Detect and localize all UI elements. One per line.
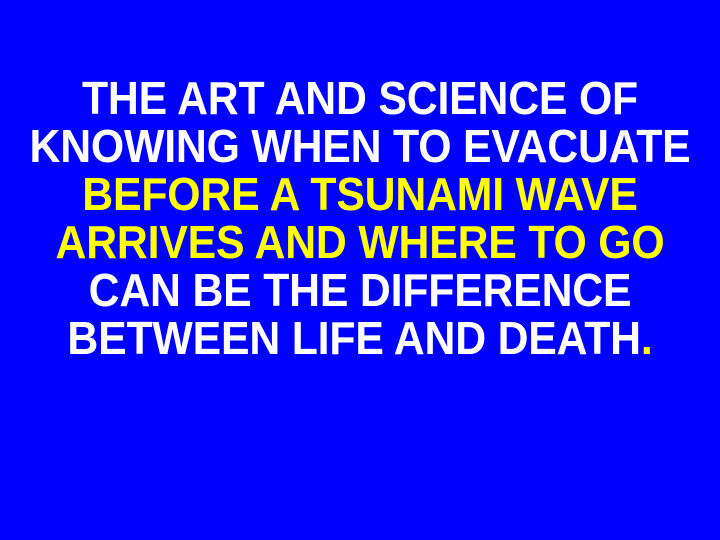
statement-line-1: THE ART AND SCIENCE OF bbox=[25, 74, 695, 122]
statement-line-4-emphasis: ARRIVES AND WHERE TO GO bbox=[25, 218, 695, 266]
terminal-period: . bbox=[641, 312, 653, 364]
statement-line-6: BETWEEN LIFE AND DEATH. bbox=[25, 314, 695, 362]
slide-canvas: THE ART AND SCIENCE OF KNOWING WHEN TO E… bbox=[0, 0, 720, 540]
statement-text-block: THE ART AND SCIENCE OF KNOWING WHEN TO E… bbox=[0, 74, 720, 362]
statement-line-2: KNOWING WHEN TO EVACUATE bbox=[25, 122, 695, 170]
statement-line-3-emphasis: BEFORE A TSUNAMI WAVE bbox=[25, 170, 695, 218]
statement-line-5: CAN BE THE DIFFERENCE bbox=[25, 266, 695, 314]
statement-line-6-text: BETWEEN LIFE AND DEATH bbox=[67, 312, 640, 364]
